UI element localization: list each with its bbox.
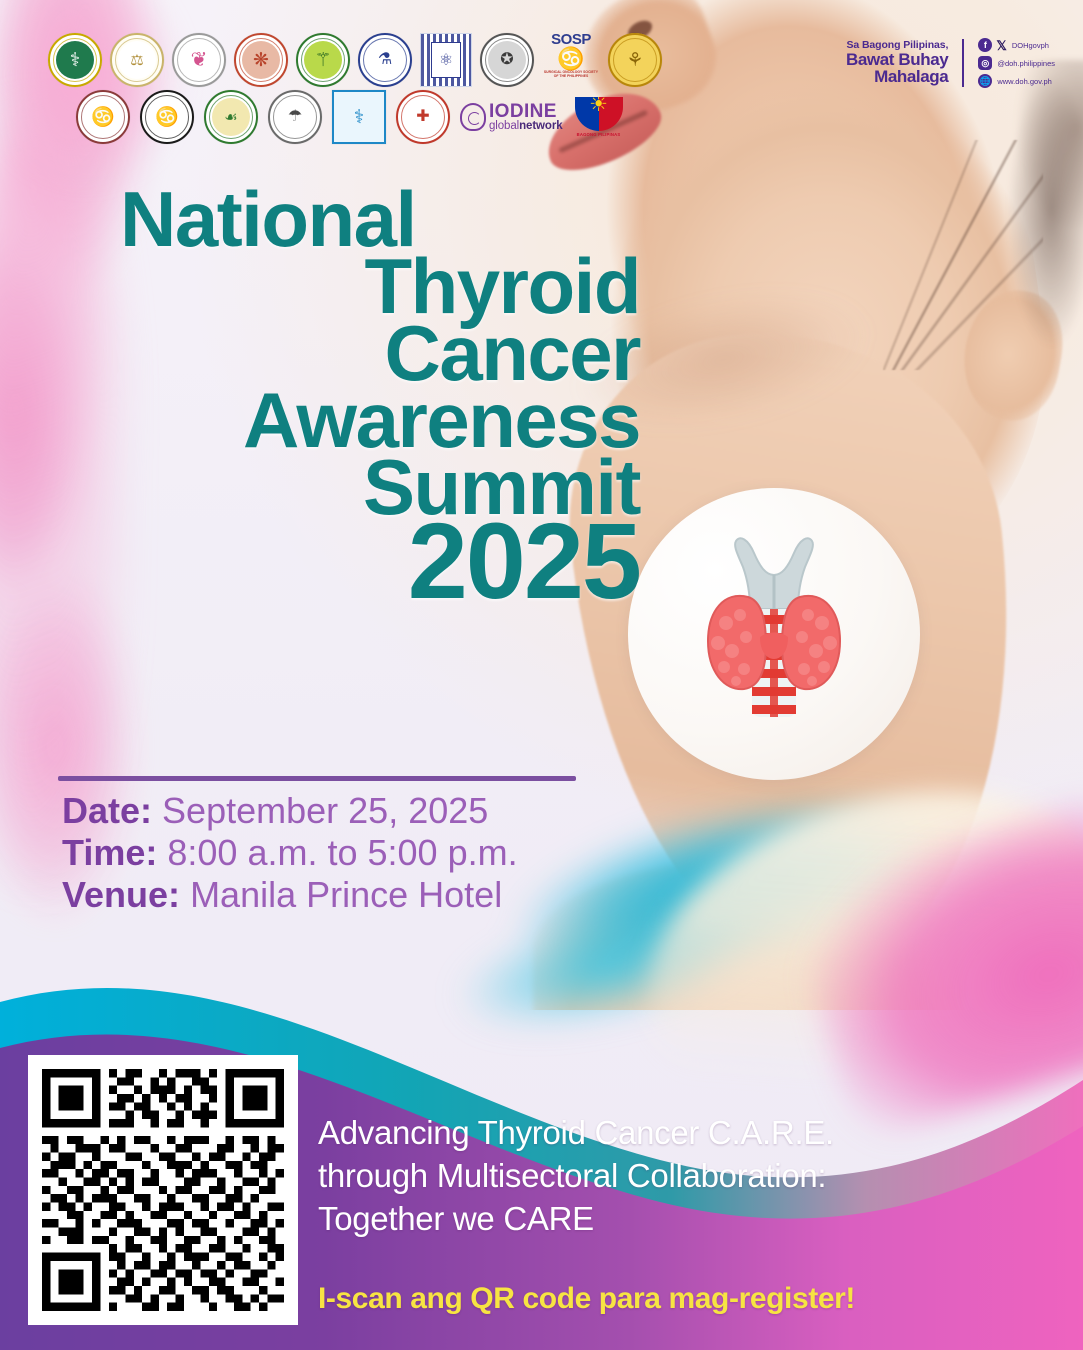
logo-surgeons-society-seal: ❋: [234, 33, 288, 87]
venue-label: Venue:: [62, 874, 180, 915]
logo-oncology-society-seal: ☙: [204, 90, 258, 144]
logo-bagong-pilipinas: ☀ BAGONG PILIPINAS: [573, 91, 625, 143]
social-handle-instagram: @doh.philippines: [997, 59, 1055, 68]
date-value: September 25, 2025: [162, 790, 488, 831]
time-label: Time:: [62, 832, 157, 873]
pink-ribbon-left-secondary: [0, 120, 110, 880]
instagram-icon: ◎: [978, 56, 992, 70]
detail-venue: Venue: Manila Prince Hotel: [62, 874, 682, 916]
bagong-caption: BAGONG PILIPINAS: [577, 132, 621, 137]
logo-doh-seal: ⚕: [48, 33, 102, 87]
tagline-line-2: through Multisectoral Collaboration:: [318, 1155, 1078, 1198]
photo-hair-strands: [883, 140, 1043, 370]
sosp-title: SOSP: [551, 32, 591, 47]
logo-medical-college-seal: ⚖: [110, 33, 164, 87]
social-row-website[interactable]: 🌐 www.doh.gov.ph: [978, 74, 1055, 88]
details-divider: [58, 776, 576, 781]
doh-slogan: Sa Bagong Pilipinas, Bawat Buhay Mahalag…: [846, 40, 948, 85]
logo-philippine-association-seal: ⚘: [608, 33, 662, 87]
doh-socials: f 𝕏 DOHgovph ◎ @doh.philippines 🌐 www.do…: [978, 38, 1055, 88]
tagline-line-3: Together we CARE: [318, 1198, 1078, 1241]
globe-icon: 🌐: [978, 74, 992, 88]
logo-radiology-society-seal: ☂: [268, 90, 322, 144]
sosp-crab-icon: ♋: [557, 48, 584, 70]
doh-divider: [962, 39, 964, 87]
logo-iodine-global-network: IODINE globalnetwork: [460, 103, 563, 132]
cta-register: I-scan ang QR code para mag-register!: [318, 1282, 1078, 1316]
social-row-facebook-x[interactable]: f 𝕏 DOHgovph: [978, 38, 1055, 52]
logo-surgical-association-seal: ⚚: [296, 33, 350, 87]
logo-cancer-society-seal-2: ♋: [140, 90, 194, 144]
logo-nuclear-medicine-blue: ⚕: [332, 90, 386, 144]
venue-value: Manila Prince Hotel: [190, 874, 502, 915]
logo-thyroid-association-seal: ❦: [172, 33, 226, 87]
poster-root: ⚕ ⚖ ❦ ❋ ⚚ ⚗ ⚛: [0, 0, 1083, 1350]
event-details: Date: September 25, 2025 Time: 8:00 a.m.…: [62, 790, 682, 915]
tagline: Advancing Thyroid Cancer C.A.R.E. throug…: [318, 1112, 1078, 1241]
iodine-word-sub: globalnetwork: [489, 121, 563, 132]
qr-code-container[interactable]: [28, 1055, 298, 1325]
tagline-line-1: Advancing Thyroid Cancer C.A.R.E.: [318, 1112, 1078, 1155]
doh-slogan-line2: Bawat Buhay: [846, 51, 948, 68]
qr-code[interactable]: [42, 1069, 284, 1311]
social-row-instagram[interactable]: ◎ @doh.philippines: [978, 56, 1055, 70]
detail-date: Date: September 25, 2025: [62, 790, 682, 832]
social-handle-website: www.doh.gov.ph: [997, 77, 1051, 86]
detail-time: Time: 8:00 a.m. to 5:00 p.m.: [62, 832, 682, 874]
logo-academy-seal: ✪: [480, 33, 534, 87]
partner-logos: ⚕ ⚖ ❦ ❋ ⚚ ⚗ ⚛: [40, 32, 600, 144]
logo-row-1: ⚕ ⚖ ❦ ❋ ⚚ ⚗ ⚛: [40, 32, 600, 88]
sosp-subtitle: SURGICAL ONCOLOGY SOCIETY OF THE PHILIPP…: [542, 71, 600, 79]
logo-college-of-radiology-seal: ✚: [396, 90, 450, 144]
social-handle-x: DOHgovph: [1012, 41, 1049, 50]
thyroid-illustration-circle: [628, 488, 920, 780]
x-icon: 𝕏: [996, 39, 1006, 52]
logo-nuclear-medicine: ⚛: [420, 33, 472, 87]
doh-branding: Sa Bagong Pilipinas, Bawat Buhay Mahalag…: [846, 38, 1055, 88]
logo-cancer-society-seal-1: ♋: [76, 90, 130, 144]
time-value: 8:00 a.m. to 5:00 p.m.: [167, 832, 517, 873]
logo-row-2: ♋ ♋ ☙ ☂ ⚕ ✚: [40, 90, 600, 144]
thyroid-gland-icon: [674, 519, 874, 749]
facebook-icon: f: [978, 38, 992, 52]
iodine-head-icon: [460, 103, 486, 131]
logo-sosp: SOSP ♋ SURGICAL ONCOLOGY SOCIETY OF THE …: [542, 32, 600, 88]
poster-title: National Thyroid Cancer Awareness Summit…: [120, 186, 640, 608]
bagong-sun-icon: ☀: [589, 97, 608, 115]
doh-slogan-line3: Mahalaga: [846, 68, 948, 85]
date-label: Date:: [62, 790, 152, 831]
logo-endocrine-society-seal: ⚗: [358, 33, 412, 87]
bagong-bowl: ☀: [575, 97, 623, 131]
iodine-word-main: IODINE: [489, 103, 563, 121]
